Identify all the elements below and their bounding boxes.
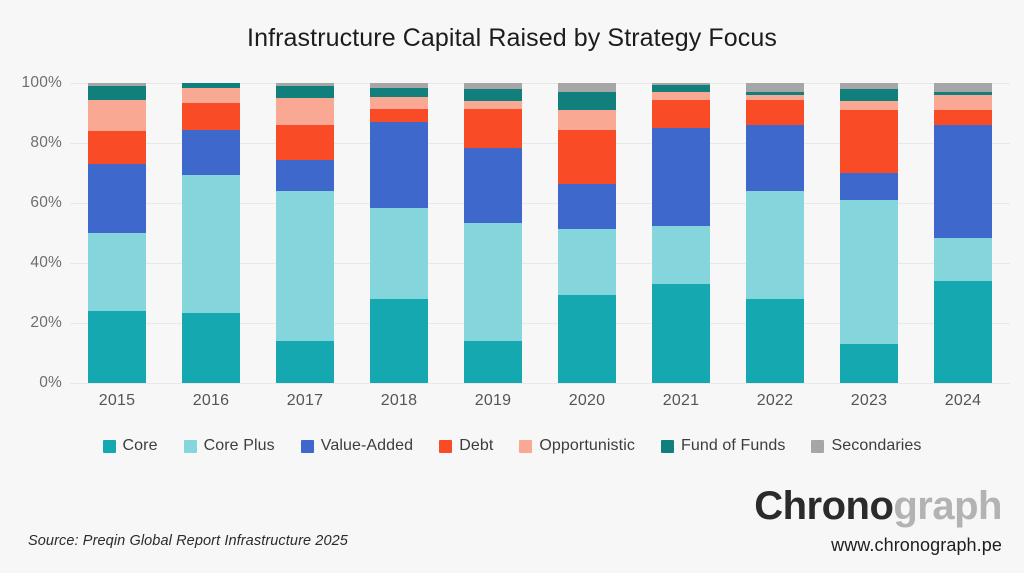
bar-segment-core[interactable] bbox=[182, 313, 240, 384]
bar-segment-opportunistic[interactable] bbox=[558, 110, 616, 130]
legend-swatch-icon bbox=[439, 440, 452, 453]
bar-segment-fund-of-funds[interactable] bbox=[840, 89, 898, 101]
x-axis: 2015201620172018201920202021202220232024 bbox=[70, 392, 1010, 416]
y-axis-tick-label: 0% bbox=[0, 374, 62, 392]
legend-label: Value-Added bbox=[321, 437, 413, 455]
bar-segment-value-added[interactable] bbox=[370, 122, 428, 208]
legend-label: Fund of Funds bbox=[681, 437, 785, 455]
bar-segment-opportunistic[interactable] bbox=[840, 101, 898, 110]
stacked-bar[interactable] bbox=[558, 83, 616, 383]
stacked-bar[interactable] bbox=[464, 83, 522, 383]
bar-segment-opportunistic[interactable] bbox=[182, 88, 240, 103]
bar-group-2016[interactable] bbox=[164, 83, 258, 383]
plot-area bbox=[70, 83, 1010, 383]
legend-swatch-icon bbox=[301, 440, 314, 453]
stacked-bar[interactable] bbox=[182, 83, 240, 383]
legend-swatch-icon bbox=[184, 440, 197, 453]
bar-segment-core[interactable] bbox=[934, 281, 992, 383]
bar-segment-core[interactable] bbox=[370, 299, 428, 383]
bar-segment-value-added[interactable] bbox=[276, 160, 334, 192]
chronograph-logo: Chronograph bbox=[754, 486, 1002, 526]
bar-segment-debt[interactable] bbox=[464, 109, 522, 148]
legend-swatch-icon bbox=[519, 440, 532, 453]
x-axis-tick-label: 2017 bbox=[258, 392, 352, 416]
legend-item-secondaries[interactable]: Secondaries bbox=[811, 437, 921, 455]
bar-segment-core-plus[interactable] bbox=[840, 200, 898, 344]
bar-series-container bbox=[70, 83, 1010, 383]
stacked-bar[interactable] bbox=[746, 83, 804, 383]
bar-segment-opportunistic[interactable] bbox=[464, 101, 522, 109]
bar-group-2020[interactable] bbox=[540, 83, 634, 383]
stacked-bar[interactable] bbox=[88, 83, 146, 383]
bar-segment-debt[interactable] bbox=[370, 109, 428, 123]
bar-group-2024[interactable] bbox=[916, 83, 1010, 383]
y-axis-tick-label: 40% bbox=[0, 254, 62, 272]
bar-segment-secondaries[interactable] bbox=[558, 83, 616, 92]
bar-segment-debt[interactable] bbox=[746, 100, 804, 126]
legend-item-debt[interactable]: Debt bbox=[439, 437, 493, 455]
bar-segment-debt[interactable] bbox=[558, 130, 616, 184]
bar-segment-core[interactable] bbox=[558, 295, 616, 384]
bar-group-2022[interactable] bbox=[728, 83, 822, 383]
bar-segment-fund-of-funds[interactable] bbox=[558, 92, 616, 110]
gridline-0 bbox=[70, 383, 1010, 384]
bar-segment-value-added[interactable] bbox=[182, 130, 240, 175]
bar-segment-core[interactable] bbox=[840, 344, 898, 383]
x-axis-tick-label: 2016 bbox=[164, 392, 258, 416]
stacked-bar[interactable] bbox=[934, 83, 992, 383]
bar-group-2015[interactable] bbox=[70, 83, 164, 383]
bar-segment-core-plus[interactable] bbox=[370, 208, 428, 300]
bar-segment-value-added[interactable] bbox=[652, 128, 710, 226]
legend-swatch-icon bbox=[103, 440, 116, 453]
bar-segment-value-added[interactable] bbox=[746, 125, 804, 191]
bar-segment-opportunistic[interactable] bbox=[652, 92, 710, 100]
y-axis-tick-label: 60% bbox=[0, 194, 62, 212]
logo-text-primary: Chrono bbox=[754, 484, 893, 528]
bar-segment-core-plus[interactable] bbox=[652, 226, 710, 285]
bar-group-2019[interactable] bbox=[446, 83, 540, 383]
y-axis: 0%20%40%60%80%100% bbox=[0, 83, 62, 383]
bar-segment-value-added[interactable] bbox=[558, 184, 616, 229]
bar-segment-opportunistic[interactable] bbox=[276, 98, 334, 125]
bar-segment-debt[interactable] bbox=[182, 103, 240, 130]
chart-page: Infrastructure Capital Raised by Strateg… bbox=[0, 0, 1024, 573]
y-axis-tick-label: 100% bbox=[0, 74, 62, 92]
bar-segment-opportunistic[interactable] bbox=[370, 97, 428, 109]
bar-segment-opportunistic[interactable] bbox=[88, 100, 146, 132]
x-axis-tick-label: 2020 bbox=[540, 392, 634, 416]
legend-item-core-plus[interactable]: Core Plus bbox=[184, 437, 275, 455]
legend-item-opportunistic[interactable]: Opportunistic bbox=[519, 437, 635, 455]
x-axis-tick-label: 2022 bbox=[728, 392, 822, 416]
bar-group-2017[interactable] bbox=[258, 83, 352, 383]
legend-label: Secondaries bbox=[831, 437, 921, 455]
legend-label: Debt bbox=[459, 437, 493, 455]
bar-segment-core[interactable] bbox=[652, 284, 710, 383]
x-axis-tick-label: 2021 bbox=[634, 392, 728, 416]
bar-segment-debt[interactable] bbox=[88, 131, 146, 164]
x-axis-tick-label: 2019 bbox=[446, 392, 540, 416]
legend-item-fund-of-funds[interactable]: Fund of Funds bbox=[661, 437, 785, 455]
x-axis-tick-label: 2015 bbox=[70, 392, 164, 416]
bar-segment-fund-of-funds[interactable] bbox=[464, 89, 522, 101]
bar-segment-fund-of-funds[interactable] bbox=[276, 86, 334, 98]
bar-group-2018[interactable] bbox=[352, 83, 446, 383]
legend-item-value-added[interactable]: Value-Added bbox=[301, 437, 413, 455]
stacked-bar[interactable] bbox=[840, 83, 898, 383]
stacked-bar[interactable] bbox=[276, 83, 334, 383]
bar-segment-core-plus[interactable] bbox=[276, 191, 334, 341]
x-axis-tick-label: 2018 bbox=[352, 392, 446, 416]
bar-segment-opportunistic[interactable] bbox=[934, 95, 992, 110]
legend-swatch-icon bbox=[661, 440, 674, 453]
bar-segment-core[interactable] bbox=[88, 311, 146, 383]
bar-segment-core[interactable] bbox=[464, 341, 522, 383]
source-note: Source: Preqin Global Report Infrastruct… bbox=[28, 533, 348, 549]
brand-block: Chronograph www.chronograph.pe bbox=[754, 486, 1002, 556]
legend-item-core[interactable]: Core bbox=[103, 437, 158, 455]
x-axis-tick-label: 2024 bbox=[916, 392, 1010, 416]
bar-segment-debt[interactable] bbox=[276, 125, 334, 160]
bar-segment-core-plus[interactable] bbox=[182, 175, 240, 313]
bar-segment-value-added[interactable] bbox=[88, 164, 146, 233]
bar-segment-fund-of-funds[interactable] bbox=[652, 85, 710, 93]
logo-text-secondary: graph bbox=[893, 484, 1002, 528]
x-axis-tick-label: 2023 bbox=[822, 392, 916, 416]
legend: CoreCore PlusValue-AddedDebtOpportunisti… bbox=[0, 437, 1024, 455]
bar-segment-debt[interactable] bbox=[934, 110, 992, 125]
legend-swatch-icon bbox=[811, 440, 824, 453]
bar-segment-core-plus[interactable] bbox=[934, 238, 992, 282]
bar-segment-core-plus[interactable] bbox=[746, 191, 804, 299]
bar-segment-core-plus[interactable] bbox=[88, 233, 146, 311]
bar-segment-value-added[interactable] bbox=[934, 125, 992, 238]
bar-segment-debt[interactable] bbox=[652, 100, 710, 129]
legend-label: Core bbox=[123, 437, 158, 455]
bar-segment-debt[interactable] bbox=[840, 110, 898, 173]
bar-group-2021[interactable] bbox=[634, 83, 728, 383]
bar-segment-secondaries[interactable] bbox=[746, 83, 804, 92]
bar-segment-core-plus[interactable] bbox=[464, 223, 522, 342]
y-axis-tick-label: 80% bbox=[0, 134, 62, 152]
brand-url: www.chronograph.pe bbox=[754, 535, 1002, 556]
bar-segment-core-plus[interactable] bbox=[558, 229, 616, 295]
y-axis-tick-label: 20% bbox=[0, 314, 62, 332]
bar-segment-secondaries[interactable] bbox=[934, 83, 992, 92]
bar-segment-fund-of-funds[interactable] bbox=[88, 86, 146, 100]
page-title: Infrastructure Capital Raised by Strateg… bbox=[0, 24, 1024, 53]
bar-segment-fund-of-funds[interactable] bbox=[370, 88, 428, 97]
bar-segment-value-added[interactable] bbox=[464, 148, 522, 223]
legend-label: Core Plus bbox=[204, 437, 275, 455]
stacked-bar[interactable] bbox=[652, 83, 710, 383]
stacked-bar[interactable] bbox=[370, 83, 428, 383]
bar-segment-core[interactable] bbox=[746, 299, 804, 383]
bar-segment-core[interactable] bbox=[276, 341, 334, 383]
bar-group-2023[interactable] bbox=[822, 83, 916, 383]
legend-label: Opportunistic bbox=[539, 437, 635, 455]
bar-segment-value-added[interactable] bbox=[840, 173, 898, 200]
